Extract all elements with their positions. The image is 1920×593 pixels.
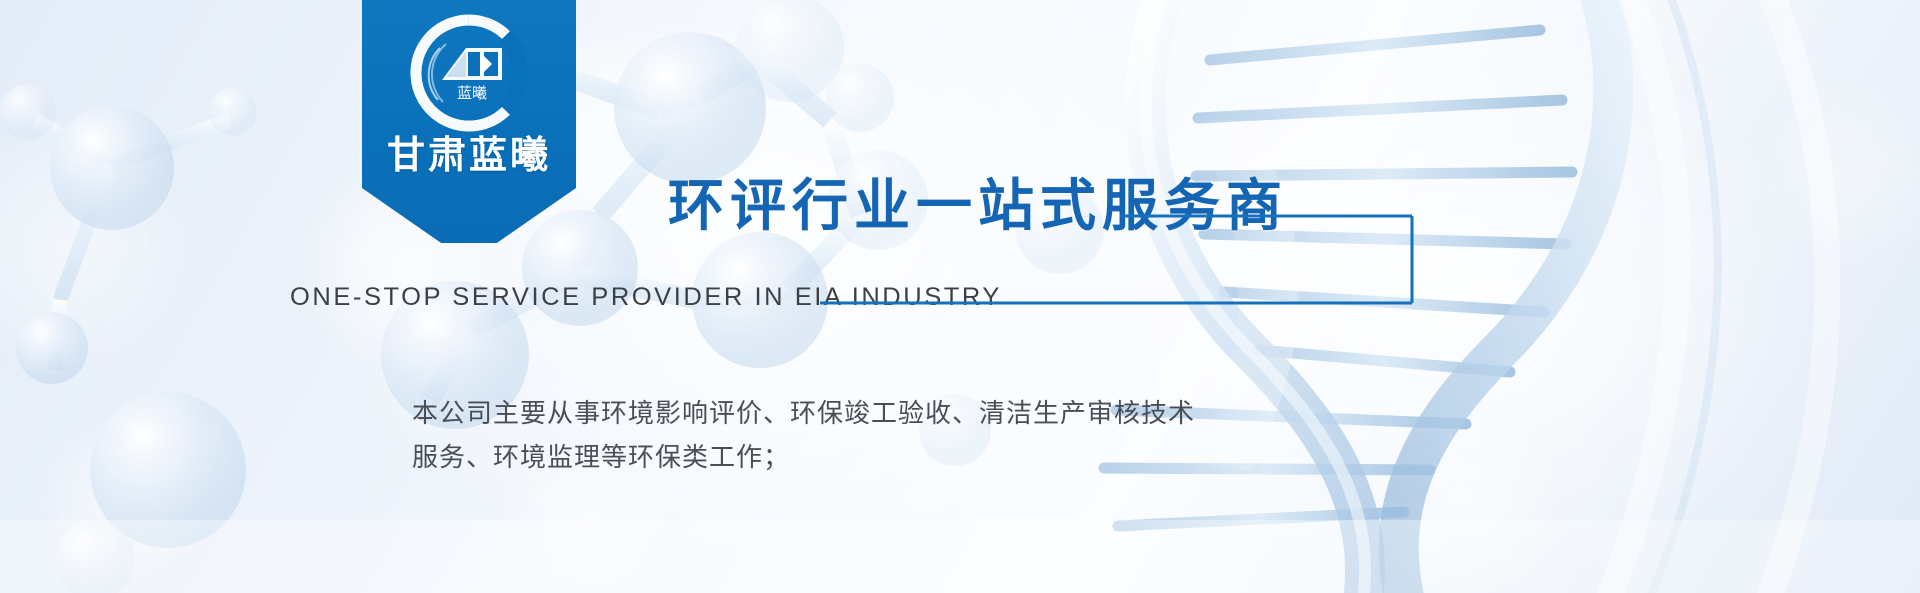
company-short-name: 甘肃蓝曦 (362, 124, 576, 179)
glow-blob (1360, 400, 1560, 593)
glow-blob (40, 420, 200, 580)
accent-bracket-rule (820, 205, 1430, 315)
hero-banner: 蓝曦 甘肃蓝曦 环评行业一站式服务商 ONE-STOP SERVICE PROV… (0, 0, 1920, 593)
brand-ribbon: 蓝曦 甘肃蓝曦 (362, 0, 576, 243)
company-logo-mark: 蓝曦 (410, 14, 528, 132)
intro-paragraph-line: 本公司主要从事环境影响评价、环保竣工验收、清洁生产审核技术 (412, 392, 1232, 436)
intro-paragraph: 本公司主要从事环境影响评价、环保竣工验收、清洁生产审核技术 服务、环境监理等环保… (412, 392, 1232, 480)
logo-mark-text: 蓝曦 (457, 84, 487, 102)
glow-blob (1760, 80, 1920, 270)
glow-blob (0, 120, 190, 370)
intro-paragraph-line: 服务、环境监理等环保类工作； (412, 436, 1232, 480)
